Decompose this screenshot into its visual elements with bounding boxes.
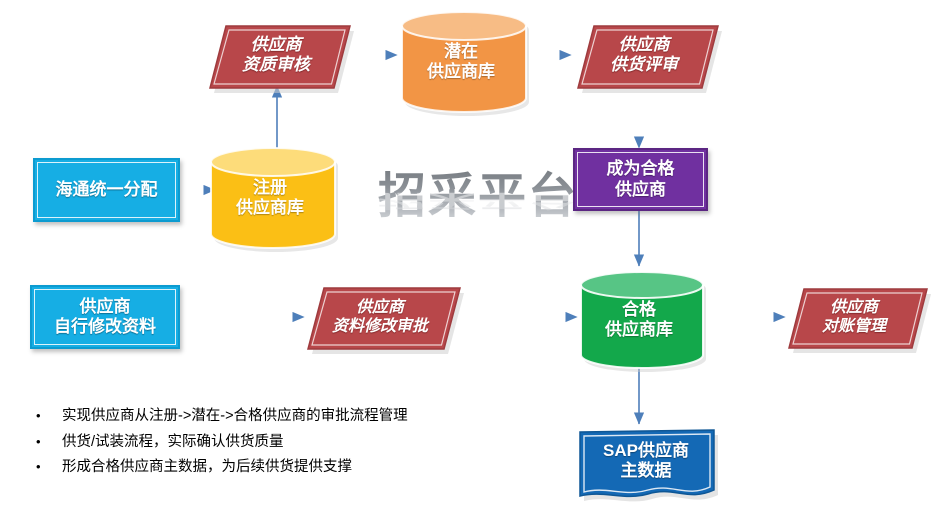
node-supplier-data-modify-approval[interactable]: 供应商 资料修改审批 (308, 285, 452, 349)
watermark-title-reflection: 招采平台 (378, 189, 578, 216)
node-sap-supplier-master-data[interactable]: SAP供应商 主数据 (578, 428, 714, 504)
node-label: 海通统一分配 (56, 180, 158, 200)
list-item: • 供货/试装流程，实际确认供货质量 (36, 434, 536, 451)
node-label: 供应商 自行修改资料 (54, 297, 156, 337)
bullet-text: 形成合格供应商主数据，为后续供货提供支撑 (62, 459, 352, 476)
node-supplier-reconciliation-management[interactable]: 供应商 对账管理 (789, 286, 919, 348)
flowchart-canvas: 招采平台 招采平台 供应商 资质审核 潜在 供应商库 供 (0, 0, 946, 514)
node-become-qualified-supplier[interactable]: 成为合格 供应商 (573, 148, 708, 211)
node-supplier-qualification-review[interactable]: 供应商 资质审核 (210, 22, 342, 88)
bullet-marker: • (36, 435, 62, 448)
node-registered-supplier-pool[interactable]: 注册 供应商库 (206, 142, 334, 246)
list-item: • 形成合格供应商主数据，为后续供货提供支撑 (36, 459, 536, 476)
node-haitong-unified-allocation[interactable]: 海通统一分配 (33, 158, 180, 222)
bullet-text: 实现供应商从注册->潜在->合格供应商的审批流程管理 (62, 408, 408, 425)
node-supplier-supply-evaluation[interactable]: 供应商 供货评审 (578, 22, 710, 88)
node-potential-supplier-pool[interactable]: 潜在 供应商库 (397, 6, 525, 110)
bullet-marker: • (36, 460, 62, 473)
bullet-list: • 实现供应商从注册->潜在->合格供应商的审批流程管理 • 供货/试装流程，实… (36, 408, 536, 485)
node-qualified-supplier-pool[interactable]: 合格 供应商库 (576, 266, 702, 366)
node-label: 成为合格 供应商 (607, 159, 675, 199)
bullet-marker: • (36, 409, 62, 422)
node-supplier-self-modify-data[interactable]: 供应商 自行修改资料 (30, 285, 180, 349)
list-item: • 实现供应商从注册->潜在->合格供应商的审批流程管理 (36, 408, 536, 425)
bullet-text: 供货/试装流程，实际确认供货质量 (62, 434, 284, 451)
